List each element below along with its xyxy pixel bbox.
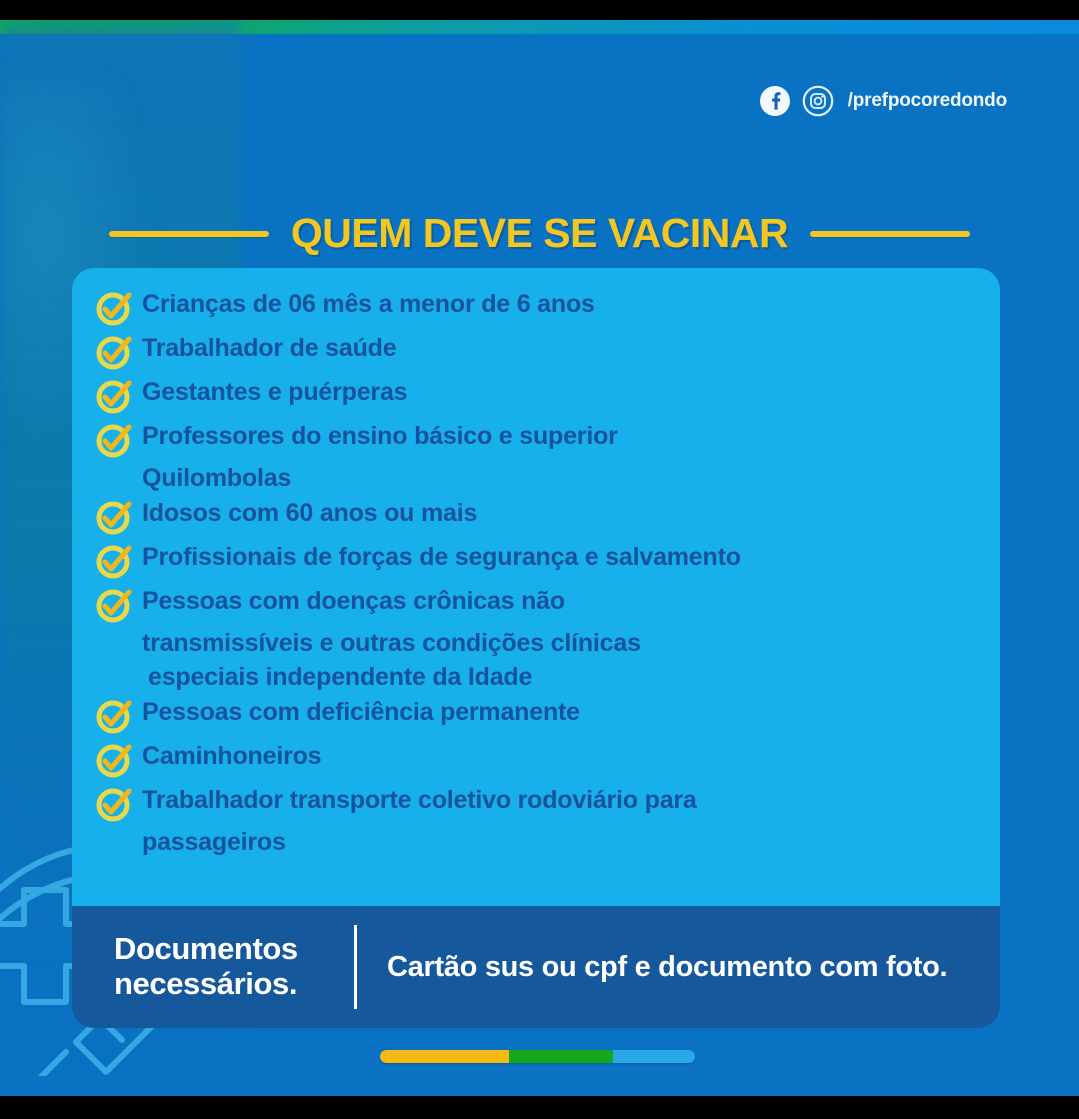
check-circle-icon — [94, 420, 134, 460]
flag-bar-segment-green — [509, 1050, 613, 1063]
eligibility-list-card: Crianças de 06 mês a menor de 6 anos Tra… — [72, 268, 1000, 906]
check-circle-icon — [94, 696, 134, 736]
instagram-icon[interactable] — [802, 85, 834, 117]
list-item: Idosos com 60 anos ou mais — [94, 495, 978, 537]
letterbox-top-bar — [0, 0, 1079, 20]
list-item: Professores do ensino básico e superior — [94, 418, 978, 460]
check-circle-icon — [94, 288, 134, 328]
list-item: Gestantes e puérperas — [94, 374, 978, 416]
documents-label: Documentos necessários. — [114, 932, 346, 1001]
list-item-label: Pessoas com deficiência permanente — [142, 694, 580, 729]
list-item-label: Pessoas com doenças crônicas não — [142, 583, 565, 618]
list-item: Profissionais de forças de segurança e s… — [94, 539, 978, 581]
documents-value: Cartão sus ou cpf e documento com foto. — [387, 951, 947, 984]
list-item: Pessoas com deficiência permanente — [94, 694, 978, 736]
list-item-continuation: Quilombolas — [142, 462, 978, 495]
list-item-label: Trabalhador de saúde — [142, 330, 396, 365]
list-item-label: Idosos com 60 anos ou mais — [142, 495, 477, 530]
documents-label-line1: Documentos — [114, 932, 346, 967]
list-item-continuation: passageiros — [142, 826, 978, 859]
check-circle-icon — [94, 740, 134, 780]
check-circle-icon — [94, 541, 134, 581]
title-rule-right — [810, 231, 970, 237]
letterbox-bottom-bar — [0, 1096, 1079, 1119]
documents-bar: Documentos necessários. Cartão sus ou cp… — [72, 906, 1000, 1028]
list-item-continuation: especiais independente da Idade — [148, 661, 978, 694]
check-circle-icon — [94, 332, 134, 372]
title-row: QUEM DEVE SE VACINAR — [0, 210, 1079, 257]
flag-bar-segment-blue — [613, 1050, 695, 1063]
check-circle-icon — [94, 376, 134, 416]
list-item-label: Caminhoneiros — [142, 738, 321, 773]
check-circle-icon — [94, 784, 134, 824]
flag-bar-segment-yellow — [380, 1050, 509, 1063]
list-item: Caminhoneiros — [94, 738, 978, 780]
list-item: Trabalhador transporte coletivo rodoviár… — [94, 782, 978, 824]
documents-divider — [354, 925, 357, 1009]
list-item-label: Professores do ensino básico e superior — [142, 418, 618, 453]
list-item-label: Trabalhador transporte coletivo rodoviár… — [142, 782, 697, 817]
list-item-continuation: transmissíveis e outras condições clínic… — [142, 627, 978, 660]
social-links[interactable]: /prefpocoredondo — [759, 85, 1007, 117]
list-item: Trabalhador de saúde — [94, 330, 978, 372]
page-title: QUEM DEVE SE VACINAR — [291, 210, 788, 257]
list-item: Crianças de 06 mês a menor de 6 anos — [94, 286, 978, 328]
vaccination-poster: /prefpocoredondo QUEM DEVE SE VACINAR Cr… — [0, 0, 1079, 1119]
eligibility-list: Crianças de 06 mês a menor de 6 anos Tra… — [94, 286, 978, 859]
facebook-icon[interactable] — [759, 85, 791, 117]
social-handle-label[interactable]: /prefpocoredondo — [848, 90, 1007, 112]
list-item-label: Gestantes e puérperas — [142, 374, 407, 409]
documents-label-line2: necessários. — [114, 967, 346, 1002]
poster-canvas: /prefpocoredondo QUEM DEVE SE VACINAR Cr… — [0, 20, 1079, 1096]
check-circle-icon — [94, 585, 134, 625]
list-item: Pessoas com doenças crônicas não — [94, 583, 978, 625]
check-circle-icon — [94, 497, 134, 537]
list-item-label: Profissionais de forças de segurança e s… — [142, 539, 741, 574]
list-item-label: Crianças de 06 mês a menor de 6 anos — [142, 286, 595, 321]
flag-color-bar — [380, 1050, 695, 1063]
title-rule-left — [109, 231, 269, 237]
